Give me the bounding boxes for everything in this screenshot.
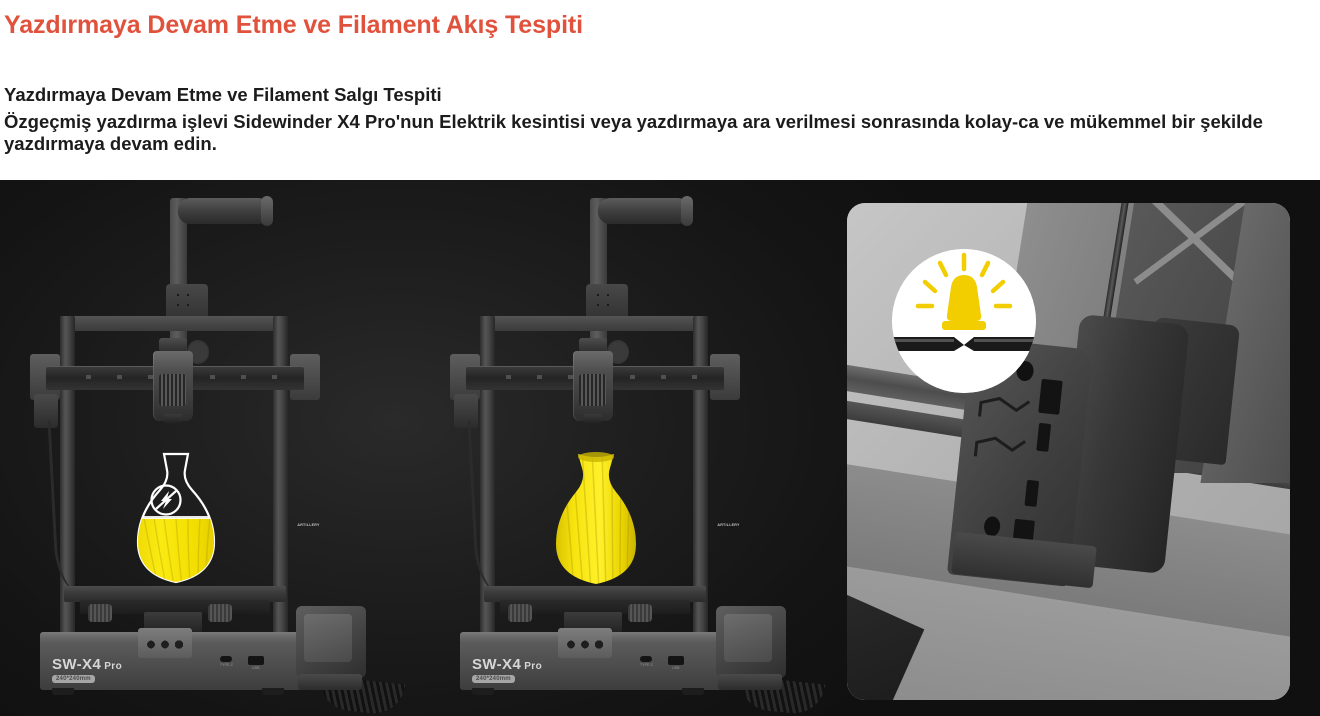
build-size-badge: 240*240mm bbox=[52, 675, 95, 683]
model-suffix-text: Pro bbox=[104, 661, 122, 672]
base-foot-right bbox=[682, 688, 704, 695]
hotend-grill bbox=[579, 374, 606, 406]
base-foot-left bbox=[52, 688, 74, 695]
base-foot-right bbox=[262, 688, 284, 695]
model-name-text: SW-X4 bbox=[472, 656, 521, 673]
usb-port: USB bbox=[668, 656, 684, 670]
hotend-mount bbox=[159, 338, 187, 352]
front-control-box bbox=[558, 628, 612, 658]
printer-model-label: SW-X4Pro bbox=[472, 656, 542, 673]
section-subtitle: Yazdırmaya Devam Etme ve Filament Salgı … bbox=[4, 84, 1320, 107]
sensor-slot-2 bbox=[1036, 423, 1051, 452]
usb-slot bbox=[668, 656, 684, 665]
frame-top-beam bbox=[60, 316, 288, 331]
usb-port-label: USB bbox=[668, 666, 684, 670]
filament-runout-sensor-detail bbox=[847, 203, 1290, 700]
spool-holder-rod bbox=[178, 198, 270, 224]
hotend-grill bbox=[159, 374, 186, 406]
hotend-mount bbox=[579, 338, 607, 352]
type-c-port-label: TYPE-C bbox=[220, 663, 233, 667]
build-size-badge: 240*240mm bbox=[472, 675, 515, 683]
usb-port-label: USB bbox=[248, 666, 264, 670]
power-off-icon bbox=[152, 486, 181, 515]
spool-holder-rod bbox=[598, 198, 690, 224]
wiring-cable bbox=[47, 419, 82, 595]
brand-logo-text: ARTILLERY bbox=[292, 523, 325, 527]
article-text-block: Yazdırmaya Devam Etme ve Filament Akış T… bbox=[0, 0, 1320, 180]
brand-logo-text: ARTILLERY bbox=[712, 523, 745, 527]
wiring-cable bbox=[467, 419, 502, 595]
product-image-stage: ARTILLERY bbox=[0, 180, 1320, 716]
filament-runout-alarm-badge bbox=[892, 249, 1036, 393]
type-c-port: TYPE-C bbox=[640, 656, 653, 667]
page-title: Yazdırmaya Devam Etme ve Filament Akış T… bbox=[4, 10, 1320, 40]
bed-leveling-knob-left bbox=[88, 604, 112, 622]
printer-right-completed: ARTILLERY bbox=[438, 188, 838, 708]
vase-print-interrupted bbox=[124, 450, 228, 590]
printer-model-label: SW-X4Pro bbox=[52, 656, 122, 673]
model-name-text: SW-X4 bbox=[52, 656, 101, 673]
bed-leveling-knob-right bbox=[628, 604, 652, 622]
sensor-slot-1 bbox=[1038, 379, 1062, 415]
nozzle bbox=[164, 414, 182, 424]
touchscreen-display[interactable] bbox=[304, 614, 352, 662]
bed-leveling-knob-right bbox=[208, 604, 232, 622]
type-c-slot bbox=[640, 656, 652, 662]
frame-top-beam bbox=[480, 316, 708, 331]
bed-leveling-knob-left bbox=[508, 604, 532, 622]
usb-slot bbox=[248, 656, 264, 665]
type-c-port-label: TYPE-C bbox=[640, 663, 653, 667]
touchscreen-display[interactable] bbox=[724, 614, 772, 662]
model-suffix-text: Pro bbox=[524, 661, 542, 672]
printer-left-interrupted: ARTILLERY bbox=[18, 188, 418, 708]
controller-stand bbox=[298, 674, 362, 690]
usb-port: USB bbox=[248, 656, 264, 670]
type-c-slot bbox=[220, 656, 232, 662]
base-foot-left bbox=[472, 688, 494, 695]
sensor-chevron-marks bbox=[968, 392, 1038, 498]
controller-stand bbox=[718, 674, 782, 690]
section-body-text: Özgeçmiş yazdırma işlevi Sidewinder X4 P… bbox=[4, 111, 1320, 156]
vase-print-completed bbox=[544, 450, 648, 590]
front-control-box bbox=[138, 628, 192, 658]
type-c-port: TYPE-C bbox=[220, 656, 233, 667]
nozzle bbox=[584, 414, 602, 424]
